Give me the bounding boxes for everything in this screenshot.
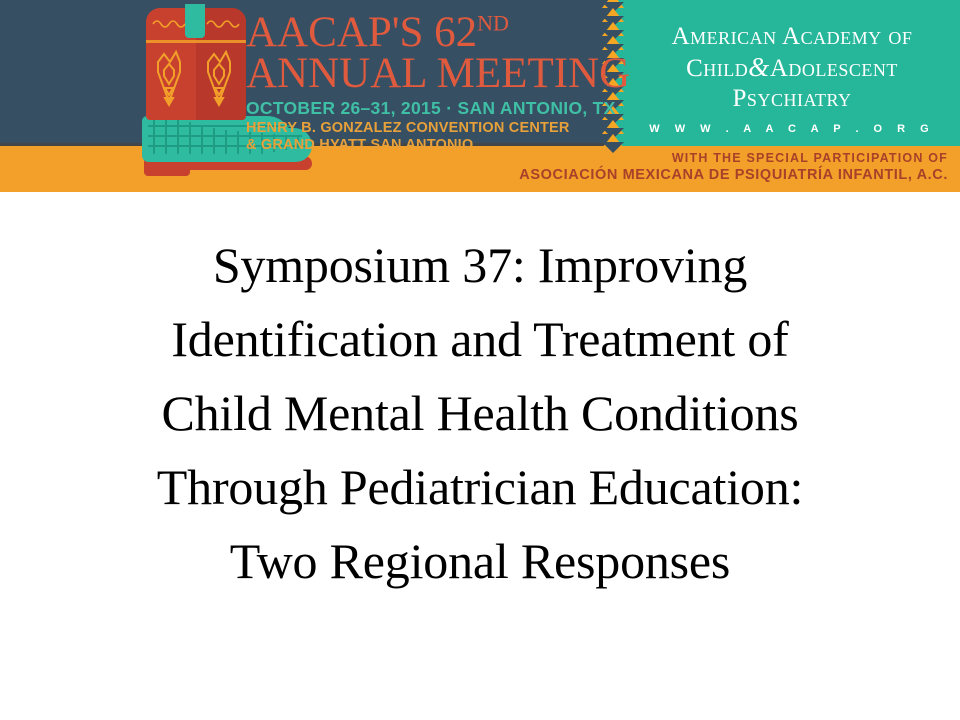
slide-title-line-1: Symposium 37: Improving	[40, 228, 920, 302]
ampersand-glyph: &	[748, 52, 770, 82]
meeting-title-block: AACAP'S 62ND ANNUAL MEETING OCTOBER 26–3…	[246, 14, 596, 154]
meeting-headline-line1: AACAP'S 62ND	[246, 14, 596, 52]
meeting-headline-line2: ANNUAL MEETING	[246, 52, 596, 96]
aacap-logo-line1: American Academy of	[624, 22, 960, 52]
conference-banner: AACAP'S 62ND ANNUAL MEETING OCTOBER 26–3…	[0, 0, 960, 192]
special-participation-line2: ASOCIACIÓN MEXICANA DE PSIQUIATRÍA INFAN…	[519, 166, 948, 185]
slide-title: Symposium 37: Improving Identification a…	[40, 228, 920, 598]
boot-squiggle-right	[206, 18, 240, 30]
slide-title-line-4: Through Pediatrician Education:	[40, 450, 920, 524]
aacap-logo-line2-pre: Child	[686, 55, 748, 82]
aacap-logo-line3: Psychiatry	[624, 84, 960, 114]
aacap-website-url: W W W . A A C A P . O R G	[624, 123, 960, 135]
slide-title-line-3: Child Mental Health Conditions	[40, 376, 920, 450]
special-participation-block: WITH THE SPECIAL PARTICIPATION OF ASOCIA…	[519, 150, 948, 185]
aacap-logo-line2: Child&Adolescent	[624, 52, 960, 84]
slide-title-line-5: Two Regional Responses	[40, 524, 920, 598]
slide-title-line-2: Identification and Treatment of	[40, 302, 920, 376]
boot-squiggle-left	[152, 18, 186, 30]
meeting-dates: OCTOBER 26–31, 2015 · SAN ANTONIO, TX	[246, 96, 596, 120]
boot-band-line	[146, 40, 246, 43]
meeting-headline-main: AACAP'S 62	[246, 9, 477, 56]
boot-pull-tab	[185, 4, 205, 38]
meeting-headline-ordinal: ND	[477, 11, 509, 36]
meeting-venue-line1: HENRY B. GONZALEZ CONVENTION CENTER	[246, 120, 596, 137]
aacap-logo: American Academy of Child&Adolescent Psy…	[624, 22, 960, 135]
boot-aztec-motif	[146, 48, 246, 122]
slide-canvas: AACAP'S 62ND ANNUAL MEETING OCTOBER 26–3…	[0, 0, 960, 720]
aacap-logo-line2-post: Adolescent	[770, 55, 898, 82]
special-participation-line1: WITH THE SPECIAL PARTICIPATION OF	[519, 150, 948, 166]
